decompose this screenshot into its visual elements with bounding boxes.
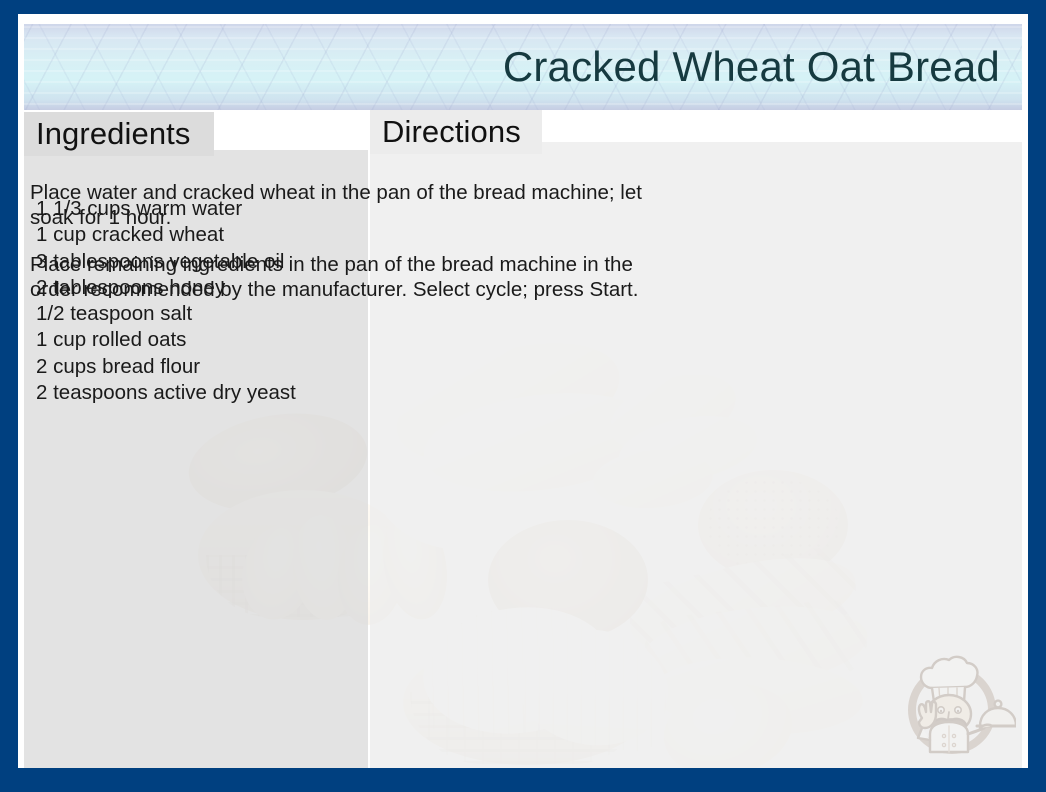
direction-step: Place remaining ingredients in the pan o… (30, 252, 670, 302)
directions-steps: Place water and cracked wheat in the pan… (30, 180, 670, 324)
slide-inner-canvas: Cracked Wheat Oat Bread (18, 14, 1028, 768)
content-area: Ingredients 1 1/3 cups warm water 1 cup … (18, 110, 1028, 768)
header-banner: Cracked Wheat Oat Bread (24, 24, 1022, 110)
direction-step: Place water and cracked wheat in the pan… (30, 180, 670, 230)
list-item: 2 teaspoons active dry yeast (36, 380, 366, 406)
list-item: 2 cups bread flour (36, 354, 366, 380)
recipe-slide: Cracked Wheat Oat Bread (0, 0, 1046, 792)
ingredients-heading: Ingredients (24, 112, 214, 156)
page-title: Cracked Wheat Oat Bread (503, 44, 1000, 90)
chef-mascot-logo (892, 642, 1016, 760)
directions-heading: Directions (370, 110, 542, 154)
list-item: 1 cup rolled oats (36, 327, 366, 353)
